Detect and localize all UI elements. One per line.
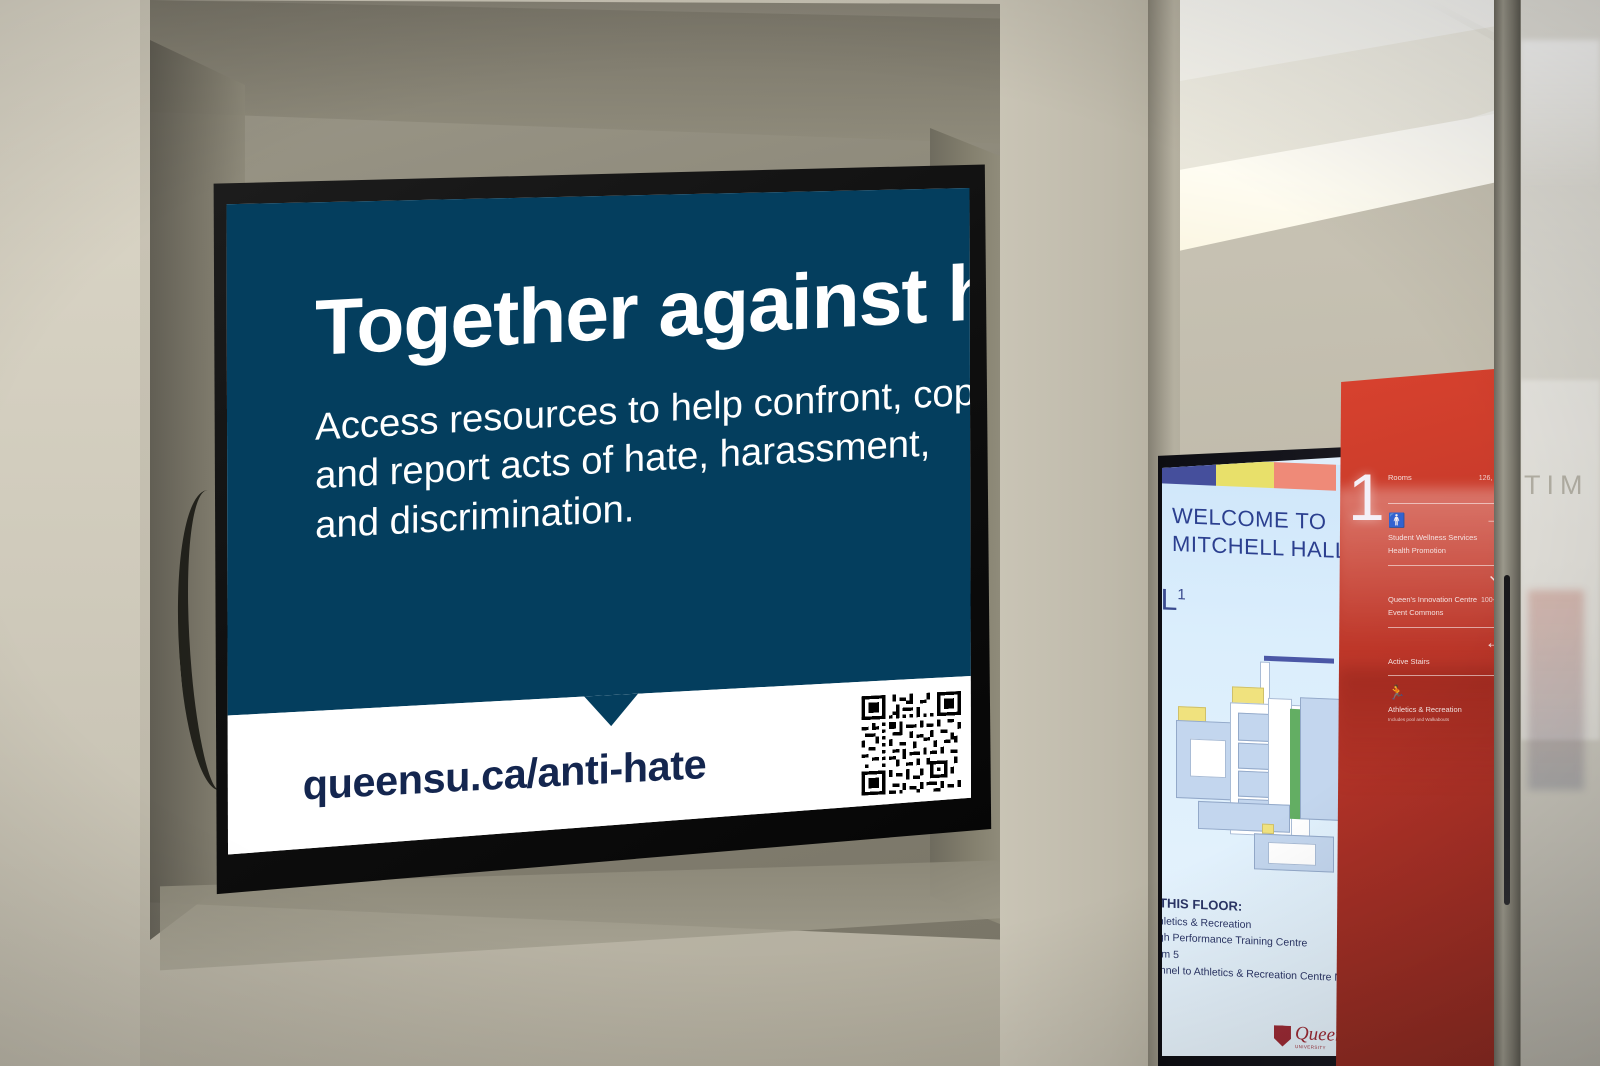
sign-entry: Rooms 126, 131: [1388, 472, 1506, 485]
sign-entry: Event Commons 101: [1388, 607, 1506, 620]
wayfinding-screen[interactable]: WELCOME TO MITCHELL HALL LL1: [1162, 456, 1360, 1056]
sign-entry: Student Wellness Services 109: [1388, 532, 1506, 545]
sign-directory-rows: ↑ Rooms 126, 131 130 🚹 → Student Wellnes…: [1388, 448, 1506, 728]
corridor-scene: Together against hate. Access resources …: [0, 0, 1600, 1066]
sign-entry: Athletics & Recreation LL: [1388, 704, 1506, 717]
sign-divider: [1388, 503, 1506, 504]
wayfinding-floor-code: LL1: [1162, 583, 1186, 619]
map-room-gym: [1190, 739, 1226, 779]
glass-reflection: [1528, 590, 1584, 790]
sign-group: 🚹 → Student Wellness Services 109 Health…: [1388, 508, 1506, 563]
wayfinding-color-bar-salmon: [1274, 462, 1336, 491]
athletics-icon: 🏃: [1388, 684, 1405, 700]
glass-top-light-reflection: [1520, 40, 1600, 190]
floor-code-text: LL: [1162, 583, 1177, 617]
sign-group: ↑ Rooms 126, 131 130: [1388, 448, 1506, 501]
sign-group: ← Active Stairs: [1388, 632, 1506, 673]
display-screen[interactable]: Together against hate. Access resources …: [222, 188, 974, 864]
map-room-block: [1198, 801, 1290, 833]
wayfinding-floor-list: ON THIS FLOOR: Athletics & Recreation Hi…: [1162, 894, 1360, 987]
glass-door-frame: [1494, 0, 1520, 1066]
sign-group: 🏃 ↓ Athletics & Recreation LL Includes p…: [1388, 680, 1506, 728]
directory-sign: 1 ↑ Rooms 126, 131 130 🚹 →: [1336, 368, 1506, 1066]
sign-divider: [1388, 627, 1506, 628]
sign-entry: Active Stairs: [1388, 656, 1506, 667]
main-digital-display[interactable]: Together against hate. Access resources …: [196, 160, 996, 900]
sign-entry: Health Promotion 120: [1388, 545, 1506, 558]
qr-code-icon[interactable]: [862, 691, 961, 796]
map-room-block: [1238, 771, 1270, 798]
wall-left-face: [0, 0, 140, 1066]
map-room-block: [1238, 713, 1270, 742]
wayfinding-welcome-heading: WELCOME TO MITCHELL HALL: [1172, 502, 1348, 564]
map-highlight-zone: [1262, 824, 1274, 835]
map-label-bar: [1264, 656, 1334, 664]
sign-entry: 130: [1388, 485, 1506, 496]
map-room-block: [1238, 743, 1270, 770]
washroom-icon: 🚹: [1388, 512, 1405, 528]
frosted-glass-text: TIM: [1524, 470, 1600, 501]
sign-divider: [1388, 565, 1506, 566]
poster-notch-triangle: [584, 694, 638, 728]
map-room-label-box: [1268, 842, 1316, 866]
shield-icon: [1274, 1025, 1291, 1047]
sign-entry: Queen's Innovation Centre 100-101: [1388, 594, 1506, 607]
floor-code-superscript: 1: [1177, 586, 1185, 603]
wayfinding-floor-map[interactable]: [1168, 648, 1348, 876]
sign-entry-subtext: Includes pool and Walkabouts: [1388, 717, 1506, 722]
sign-divider: [1388, 675, 1506, 676]
map-room-block: [1300, 697, 1342, 821]
door-handle[interactable]: [1504, 575, 1510, 905]
map-green-corridor: [1290, 709, 1300, 819]
sign-floor-number: 1: [1348, 464, 1385, 530]
sign-group: ↘ Queen's Innovation Centre 100-101 Even…: [1388, 570, 1506, 625]
